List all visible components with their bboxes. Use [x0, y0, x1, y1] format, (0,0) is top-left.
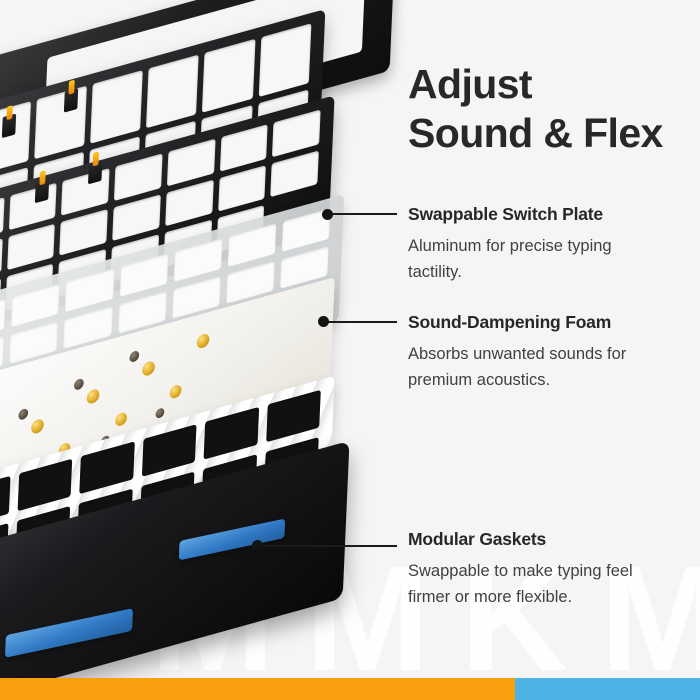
- feature-title: Swappable Switch Plate: [408, 203, 648, 226]
- key-cutout: [0, 101, 31, 175]
- headline-line-2: Sound & Flex: [408, 109, 698, 158]
- wave-slot: [80, 441, 135, 493]
- foam-cutout: [65, 268, 114, 311]
- wave-slot: [17, 459, 72, 511]
- key-cutout: [61, 168, 109, 215]
- page-title: Adjust Sound & Flex: [408, 60, 698, 158]
- key-cutout: [202, 39, 255, 113]
- leader-dot-1: [322, 209, 333, 220]
- leader-line-1: [327, 213, 397, 215]
- headline-line-1: Adjust: [408, 60, 698, 109]
- pcb-contact: [155, 407, 164, 419]
- key-cutout: [146, 54, 199, 128]
- pcb-gold-pad: [142, 360, 155, 377]
- mechanical-switch: [35, 179, 49, 204]
- infographic-canvas: M M K M: [0, 0, 700, 700]
- key-cutout: [7, 223, 55, 270]
- feature-title: Sound-Dampening Foam: [408, 311, 648, 334]
- wave-slot: [142, 424, 197, 476]
- foam-cutout: [11, 283, 60, 326]
- accent-bar-blue: [515, 678, 700, 700]
- key-cutout: [90, 70, 143, 144]
- key-cutout: [0, 197, 4, 244]
- key-cutout: [270, 150, 318, 197]
- feature-block-modular-gaskets: Modular Gaskets Swappable to make typing…: [408, 528, 648, 610]
- pcb-gold-pad: [87, 388, 100, 405]
- key-cutout: [258, 23, 311, 97]
- leader-dot-3: [252, 540, 263, 551]
- wave-slot: [266, 390, 321, 442]
- pcb-gold-pad: [115, 411, 127, 427]
- key-cutout: [59, 209, 107, 256]
- key-cutout: [167, 139, 215, 186]
- key-cutout: [34, 86, 87, 160]
- key-cutout: [218, 165, 266, 212]
- foam-cutout: [119, 253, 168, 296]
- feature-body: Absorbs unwanted sounds for premium acou…: [408, 341, 648, 393]
- pcb-gold-pad: [170, 384, 182, 400]
- key-cutout: [112, 194, 160, 241]
- feature-block-sound-dampening-foam: Sound-Dampening Foam Absorbs unwanted so…: [408, 311, 648, 393]
- key-cutout: [165, 179, 213, 226]
- pcb-contact: [18, 408, 28, 421]
- foam-cutout: [228, 223, 277, 266]
- mechanical-switch: [88, 160, 102, 185]
- pcb-gold-pad: [31, 418, 44, 435]
- feature-block-swappable-switch-plate: Swappable Switch Plate Aluminum for prec…: [408, 203, 648, 285]
- feature-body: Swappable to make typing feel firmer or …: [408, 558, 648, 610]
- pcb-contact: [129, 350, 139, 363]
- pcb-gold-pad: [196, 332, 209, 349]
- key-cutout: [114, 153, 162, 200]
- pcb-contact: [74, 378, 84, 391]
- wave-slot: [204, 407, 259, 459]
- feature-body: Aluminum for precise typing tactility.: [408, 233, 648, 285]
- leader-dot-2: [318, 316, 329, 327]
- wave-slot: [0, 476, 10, 528]
- content-column: Adjust Sound & Flex Swappable Switch Pla…: [408, 0, 700, 700]
- leader-line-3: [263, 545, 397, 547]
- key-cutout: [272, 110, 320, 157]
- mechanical-switch: [2, 113, 16, 138]
- leader-line-2: [327, 321, 397, 323]
- mechanical-switch: [64, 88, 78, 113]
- key-cutout: [8, 183, 56, 230]
- product-exploded-view: [0, 0, 400, 690]
- foam-cutout: [0, 298, 6, 341]
- feature-title: Modular Gaskets: [408, 528, 648, 551]
- accent-bar-orange: [0, 678, 515, 700]
- bottom-accent-bar: [0, 678, 700, 700]
- foam-cutout: [173, 238, 222, 281]
- key-cutout: [219, 124, 267, 171]
